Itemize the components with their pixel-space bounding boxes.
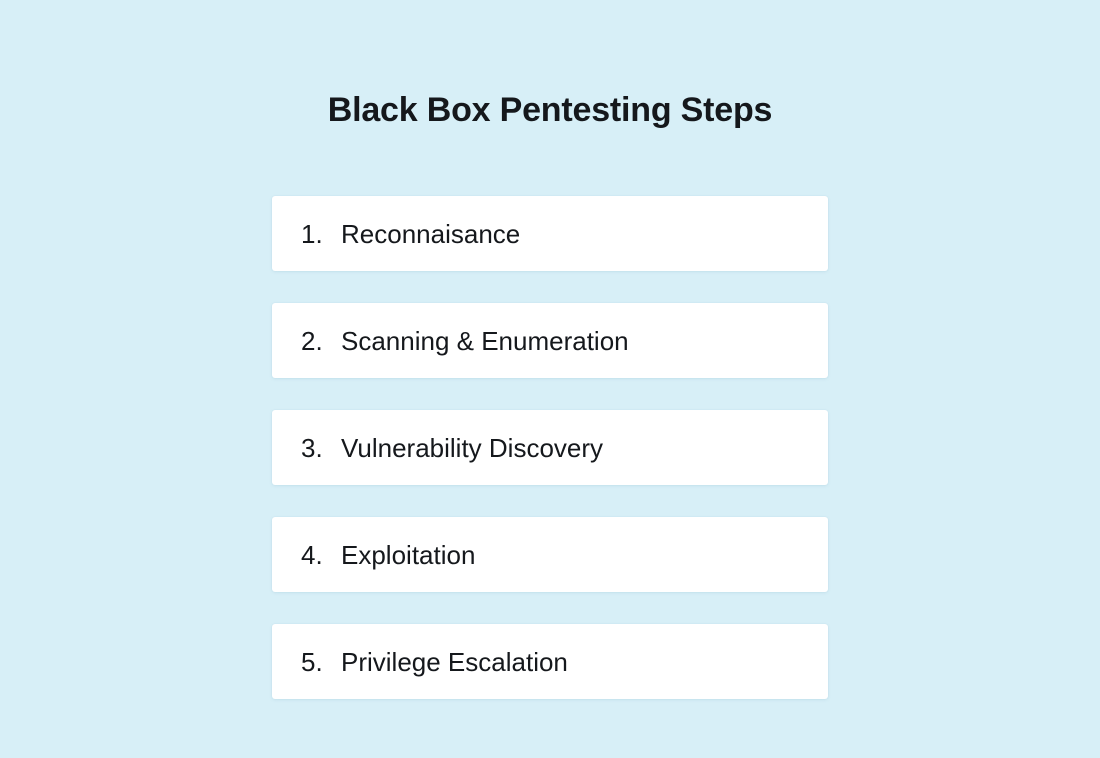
step-number: 5. [301, 647, 341, 677]
step-number: 1. [301, 219, 341, 249]
step-number: 4. [301, 540, 341, 570]
list-item: 2. Scanning & Enumeration [272, 303, 828, 378]
page-title: Black Box Pentesting Steps [0, 88, 1100, 132]
step-label: Vulnerability Discovery [341, 433, 828, 463]
step-label: Exploitation [341, 540, 828, 570]
step-number: 2. [301, 326, 341, 356]
list-item: 3. Vulnerability Discovery [272, 410, 828, 485]
step-label: Privilege Escalation [341, 647, 828, 677]
step-label: Reconnaisance [341, 219, 828, 249]
list-item: 1. Reconnaisance [272, 196, 828, 271]
infographic-canvas: Black Box Pentesting Steps 1. Reconnaisa… [0, 0, 1100, 758]
list-item: 4. Exploitation [272, 517, 828, 592]
pentesting-steps-list: 1. Reconnaisance 2. Scanning & Enumerati… [272, 196, 828, 699]
step-number: 3. [301, 433, 341, 463]
list-item: 5. Privilege Escalation [272, 624, 828, 699]
step-label: Scanning & Enumeration [341, 326, 828, 356]
